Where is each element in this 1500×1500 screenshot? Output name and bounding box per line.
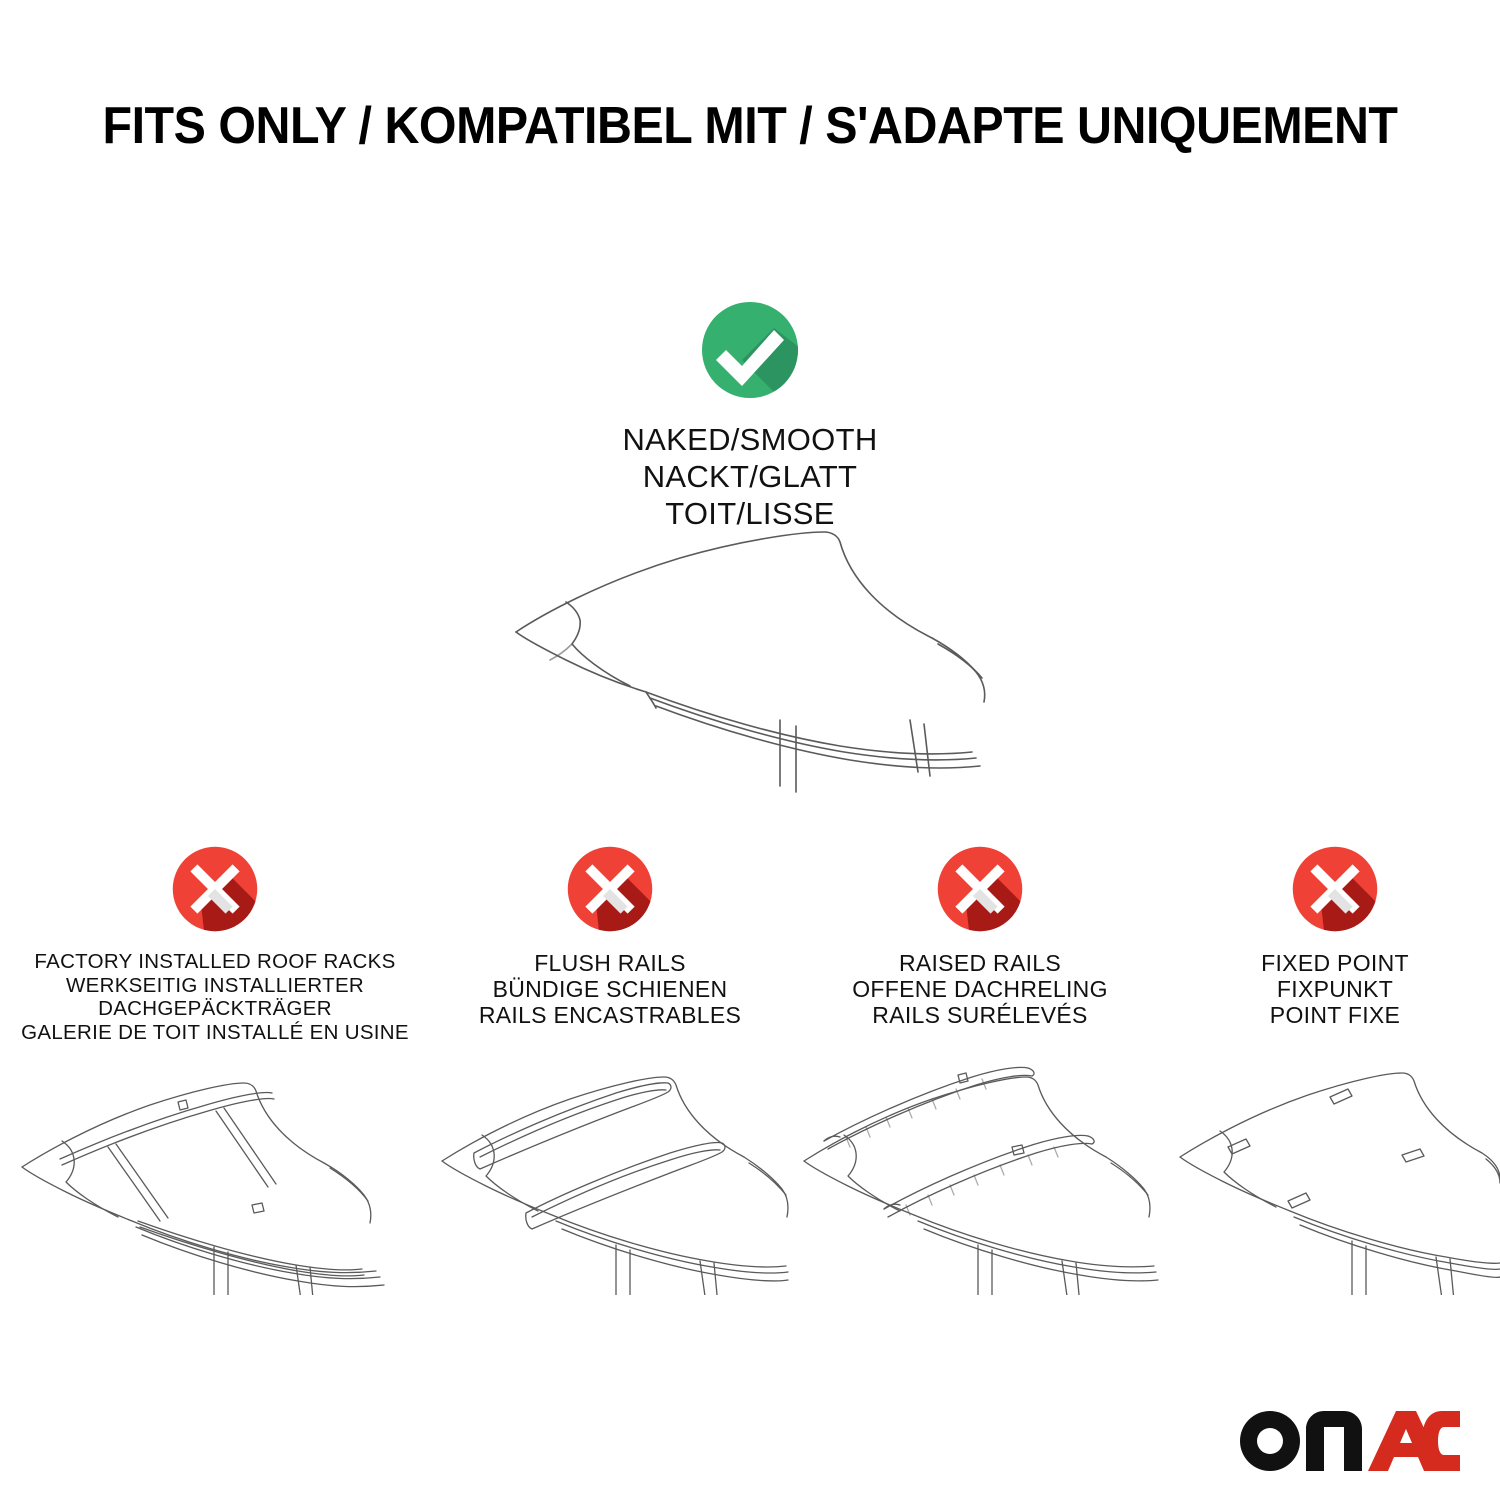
label-line-3: DACHGEPÄCKTRÄGER xyxy=(0,997,430,1021)
incompatible-labels-factory-rack: FACTORY INSTALLED ROOF RACKS WERKSEITIG … xyxy=(0,950,430,1044)
cross-circle-icon xyxy=(430,845,790,938)
cross-circle-icon xyxy=(1170,845,1500,938)
incompatible-labels-raised-rails: RAISED RAILS OFFENE DACHRELING RAILS SUR… xyxy=(790,950,1170,1028)
incompatible-labels-flush-rails: FLUSH RAILS BÜNDIGE SCHIENEN RAILS ENCAS… xyxy=(430,950,790,1028)
incompatible-labels-fixed-point: FIXED POINT FIXPUNKT POINT FIXE xyxy=(1170,950,1500,1028)
label-line-3: POINT FIXE xyxy=(1170,1002,1500,1028)
label-line-1: FACTORY INSTALLED ROOF RACKS xyxy=(0,950,430,974)
omac-logo xyxy=(1232,1395,1462,1478)
label-line-3: RAILS ENCASTRABLES xyxy=(430,1002,790,1028)
compatible-section: NAKED/SMOOTH NACKT/GLATT TOIT/LISSE xyxy=(0,300,1500,532)
incompatible-item-raised-rails: RAISED RAILS OFFENE DACHRELING RAILS SUR… xyxy=(790,845,1170,1044)
label-line-2: OFFENE DACHRELING xyxy=(790,976,1170,1002)
incompatible-section: FACTORY INSTALLED ROOF RACKS WERKSEITIG … xyxy=(0,845,1500,1044)
label-line-2: WERKSEITIG INSTALLIERTER xyxy=(0,974,430,998)
incompatible-item-factory-rack: FACTORY INSTALLED ROOF RACKS WERKSEITIG … xyxy=(0,845,430,1044)
label-line-1: FIXED POINT xyxy=(1170,950,1500,976)
label-line-2: BÜNDIGE SCHIENEN xyxy=(430,976,790,1002)
compatible-labels: NAKED/SMOOTH NACKT/GLATT TOIT/LISSE xyxy=(0,421,1500,532)
label-line-4: GALERIE DE TOIT INSTALLÉ EN USINE xyxy=(0,1021,430,1045)
car-roof-factory-rack-illustration xyxy=(0,1055,430,1300)
label-line-1: FLUSH RAILS xyxy=(430,950,790,976)
roof-illustrations-row xyxy=(0,1055,1500,1300)
car-roof-flush-rails-illustration xyxy=(430,1055,790,1300)
logo-letter-m xyxy=(1306,1411,1362,1471)
label-line-1: RAISED RAILS xyxy=(790,950,1170,976)
car-roof-fixed-point-illustration xyxy=(1170,1055,1500,1300)
label-line-3: RAILS SURÉLEVÉS xyxy=(790,1002,1170,1028)
incompatible-item-flush-rails: FLUSH RAILS BÜNDIGE SCHIENEN RAILS ENCAS… xyxy=(430,845,790,1044)
logo-letter-o xyxy=(1240,1411,1300,1471)
cross-circle-icon xyxy=(790,845,1170,938)
compatible-label-de: NACKT/GLATT xyxy=(0,458,1500,495)
car-roof-naked-smooth-illustration xyxy=(0,520,1500,815)
check-circle-icon xyxy=(0,300,1500,405)
compatible-label-en: NAKED/SMOOTH xyxy=(0,421,1500,458)
car-roof-raised-rails-illustration xyxy=(790,1055,1170,1300)
cross-circle-icon xyxy=(0,845,430,938)
incompatible-item-fixed-point: FIXED POINT FIXPUNKT POINT FIXE xyxy=(1170,845,1500,1044)
page-title: FITS ONLY / KOMPATIBEL MIT / S'ADAPTE UN… xyxy=(53,96,1448,156)
label-line-2: FIXPUNKT xyxy=(1170,976,1500,1002)
logo-letter-c xyxy=(1422,1411,1460,1471)
